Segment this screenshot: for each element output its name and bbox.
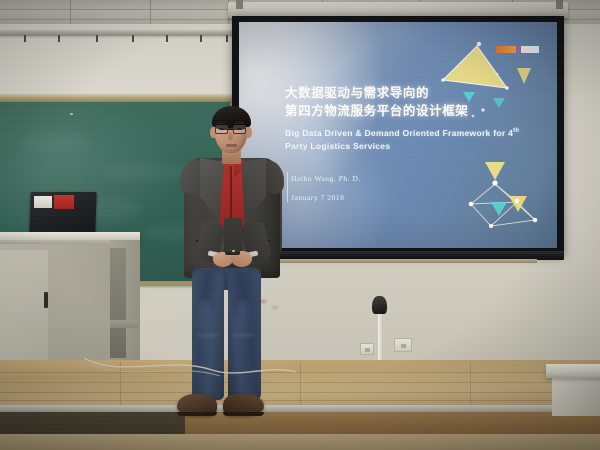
- slide-title-cn-line1: 大数据驱动与需求导向的: [285, 82, 429, 101]
- speaker-icon: [372, 296, 387, 314]
- curtain-hook: [96, 35, 98, 42]
- wall-mark: [272, 306, 278, 309]
- logo-mark-white: [521, 46, 539, 53]
- shoe-sole-right: [223, 412, 264, 416]
- floor-foreground: [0, 434, 600, 450]
- jeans-knee-crease-right: [231, 334, 255, 337]
- eyeglasses-bridge: [228, 128, 233, 129]
- slide-date: January 7 2018: [291, 193, 344, 202]
- presenter-eyebrow-right: [235, 122, 244, 124]
- curtain-track: [0, 30, 238, 36]
- presenter-eyebrow-left: [217, 122, 226, 124]
- laptop-sticker-red: [54, 195, 74, 209]
- jeans-highlight-right: [236, 300, 250, 358]
- floor-cable: [80, 352, 300, 382]
- lectern-front-panel: [0, 250, 48, 368]
- slide-accent-rule: [287, 172, 288, 202]
- curtain-hook: [58, 35, 60, 42]
- curtain-hook: [226, 35, 228, 42]
- laptop-sticker-white: [34, 196, 52, 208]
- jeans-highlight-left: [198, 300, 212, 360]
- curtain-hook: [200, 35, 202, 42]
- logo-mark-purple: [517, 46, 520, 53]
- curtain-hook: [132, 35, 134, 42]
- superscript-th: th: [513, 128, 519, 134]
- speaker-stand-pole: [378, 308, 382, 360]
- curtain-hook: [166, 35, 168, 42]
- logo-mark-orange: [496, 46, 516, 53]
- wall-outlet[interactable]: [394, 338, 412, 352]
- chalk-rail: [0, 94, 237, 102]
- screen-bar-trim: [237, 259, 537, 263]
- jeans-knee-crease-left: [196, 334, 220, 337]
- slide-subtitle-en-line2: Party Logistics Services: [285, 141, 390, 151]
- presenter-ear-right: [246, 127, 252, 138]
- slide-presenter-name: Haibo Wang, Ph. D.: [291, 174, 361, 183]
- slide-subtitle-en-line1: Big Data Driven & Demand Oriented Framew…: [285, 128, 519, 138]
- side-table-base: [552, 376, 600, 416]
- shoe-sole-left: [177, 412, 217, 416]
- presenter-nose: [228, 132, 233, 140]
- side-table: [546, 364, 600, 378]
- slide-title-cn-line2: 第四方物流服务平台的设计框架: [285, 100, 468, 119]
- photo-scene: 大数据驱动与需求导向的 第四方物流服务平台的设计框架 Big Data Driv…: [0, 0, 600, 450]
- curtain-hook: [24, 35, 26, 42]
- slide-logo: [496, 46, 539, 53]
- lectern-door-handle[interactable]: [44, 292, 48, 308]
- clicker-indicator-light: [232, 250, 235, 252]
- projected-slide: 大数据驱动与需求导向的 第四方物流服务平台的设计框架 Big Data Driv…: [239, 22, 557, 248]
- presenter-mouth: [226, 144, 237, 147]
- network-graphic-bottom: [451, 150, 557, 248]
- wall-outlet[interactable]: [360, 343, 374, 355]
